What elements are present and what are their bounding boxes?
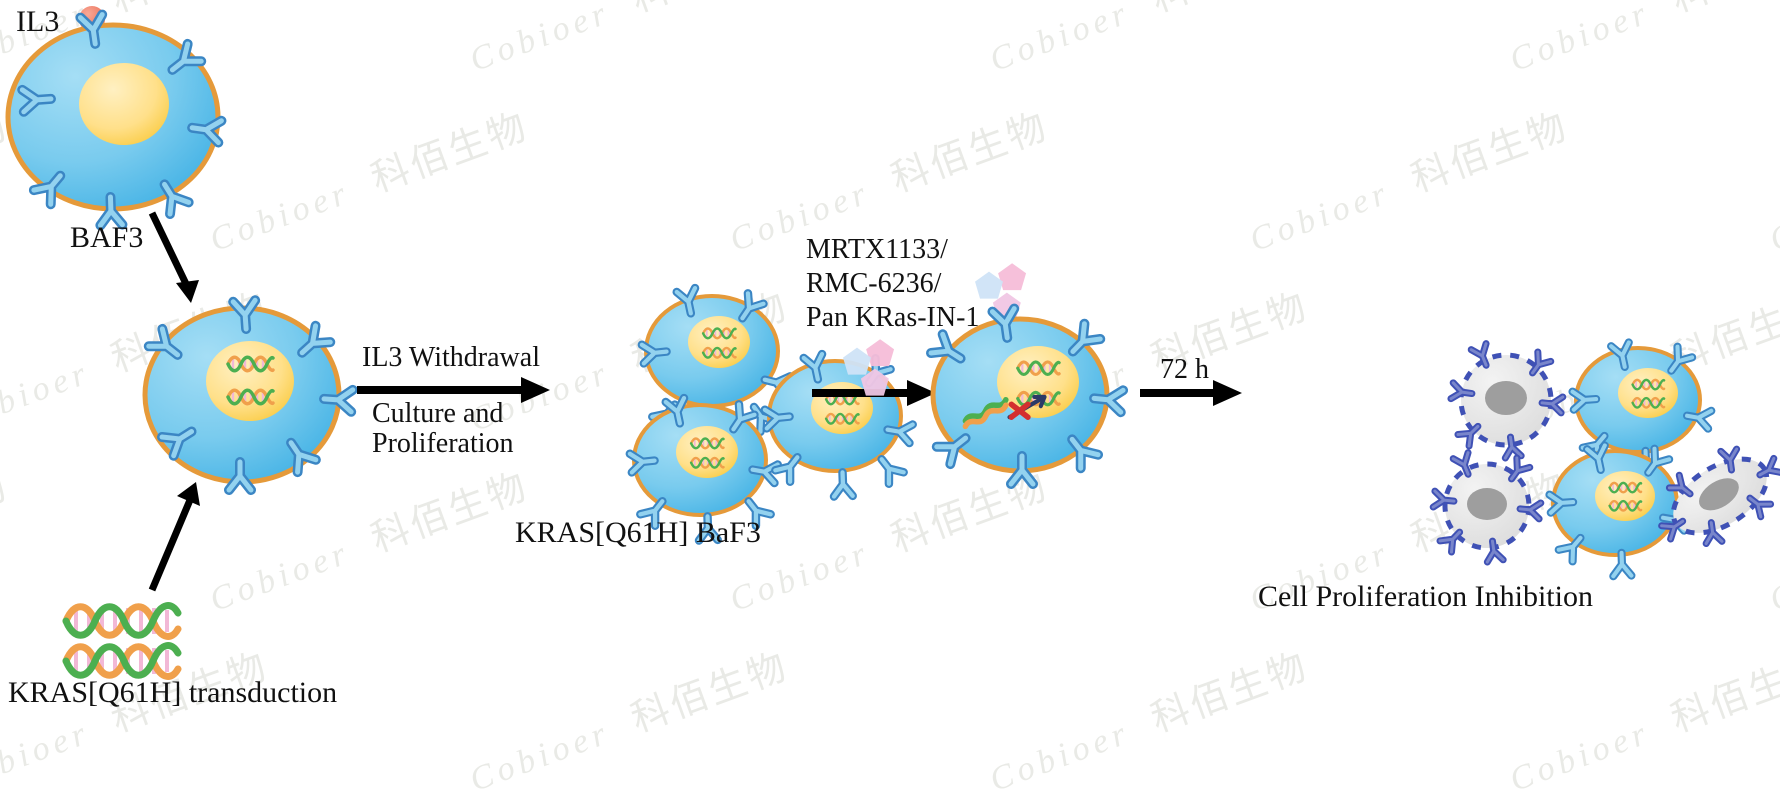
drug-label-line2: RMC-6236/ <box>806 266 941 301</box>
il3-label: IL3 <box>16 3 59 41</box>
incubation-time-label: 72 h <box>1160 352 1209 387</box>
process-arrow-icon <box>152 482 200 590</box>
drug-label-line1: MRTX1133/ <box>806 232 948 267</box>
baf3-cell <box>8 15 221 226</box>
dna-helix-icon <box>66 606 178 677</box>
apoptotic-cell-icon <box>1433 453 1541 562</box>
baf3-cell <box>1550 445 1688 576</box>
inhibited-cells <box>1433 342 1780 576</box>
process-arrow-icon <box>152 213 199 303</box>
baf3-label: BAF3 <box>70 219 143 257</box>
outcome-label: Cell Proliferation Inhibition <box>1258 578 1593 616</box>
transduction-label: KRAS[Q61H] transduction <box>8 674 337 712</box>
apoptotic-cell-icon <box>1451 344 1563 458</box>
kras-baf3-label: KRAS[Q61H] BaF3 <box>515 514 761 552</box>
diagram-canvas: Cobioer科佰生物Cobioer科佰生物Cobioer科佰生物Cobioer… <box>0 0 1780 812</box>
proliferation-label: Proliferation <box>372 426 514 461</box>
transduced-cell <box>145 300 353 490</box>
il3-withdrawal-label: IL3 Withdrawal <box>362 340 540 375</box>
drug-label-line3: Pan KRas-IN-1 <box>806 300 979 335</box>
